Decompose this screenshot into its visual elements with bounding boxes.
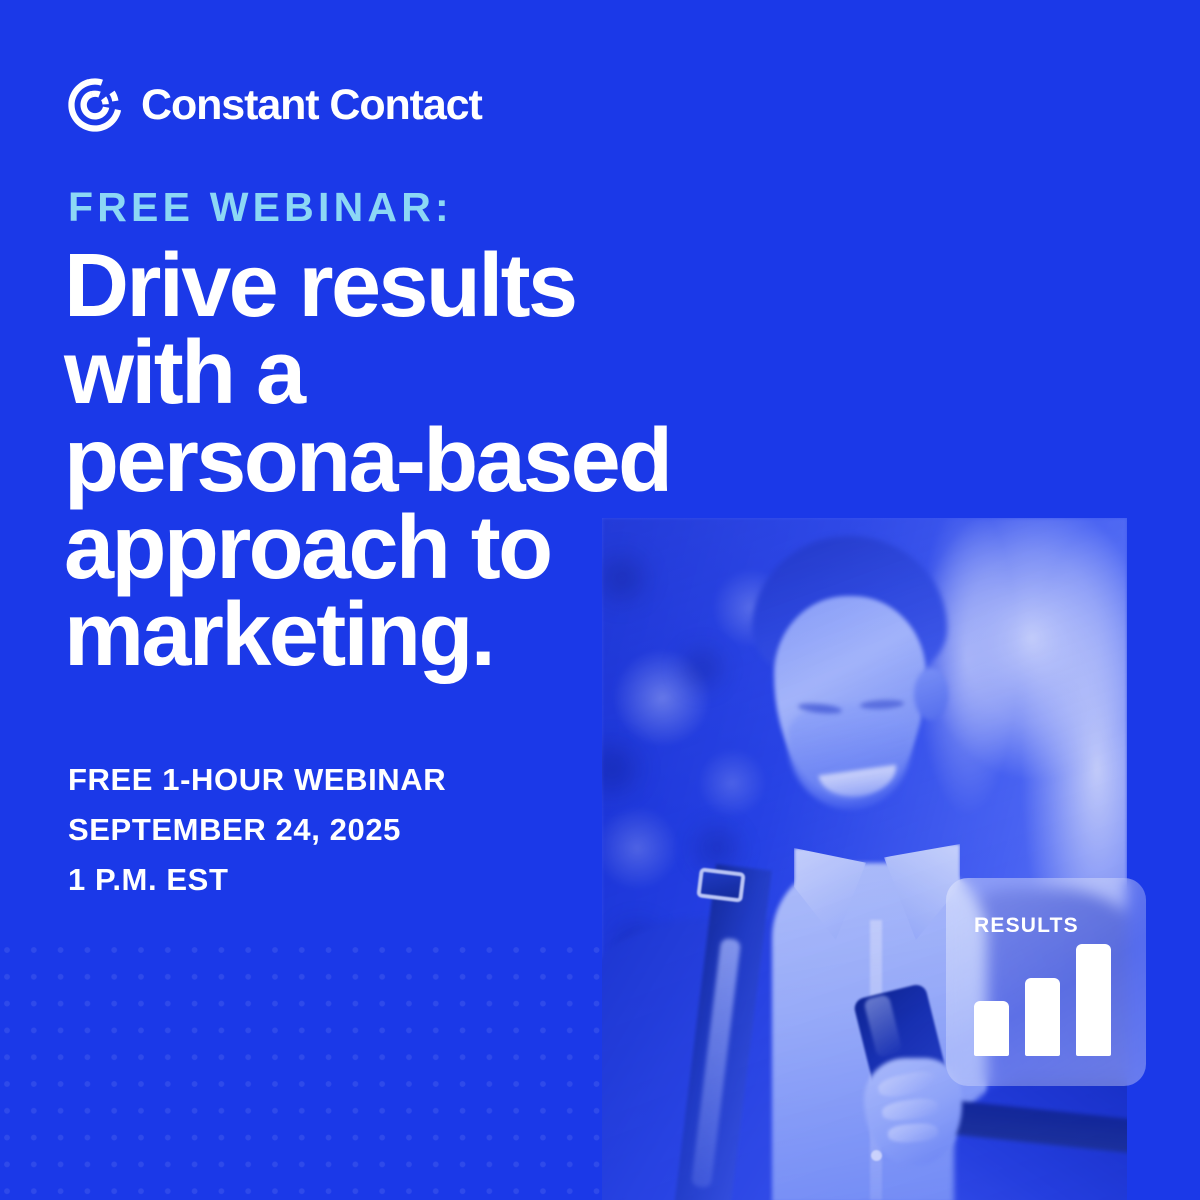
constant-contact-target-icon: [66, 76, 124, 134]
results-bar-chart: [974, 944, 1120, 1056]
results-card: RESULTS: [946, 878, 1146, 1086]
event-detail-line: FREE 1-HOUR WEBINAR: [68, 755, 446, 805]
results-card-label: RESULTS: [974, 914, 1079, 938]
headline-line: approach to: [64, 505, 824, 592]
event-detail-line: 1 P.M. EST: [68, 855, 446, 905]
results-bar: [974, 1001, 1009, 1056]
headline-line: persona-based: [64, 418, 824, 505]
dot-pattern-texture: [0, 945, 640, 1200]
event-details: FREE 1-HOUR WEBINAR SEPTEMBER 24, 2025 1…: [68, 755, 446, 906]
brand-name: Constant Contact: [141, 81, 482, 130]
headline-line: Drive results: [64, 243, 824, 330]
results-bar: [1025, 978, 1060, 1056]
headline: Drive results with a persona-based appro…: [64, 243, 824, 679]
headline-line: marketing.: [64, 592, 824, 679]
brand-logo: Constant Contact: [66, 76, 482, 134]
event-detail-line: SEPTEMBER 24, 2025: [68, 805, 446, 855]
headline-line: with a: [64, 330, 824, 417]
results-bar: [1076, 944, 1111, 1056]
webinar-promo-poster: RESULTS Constant Contact FREE WEBINAR: D…: [0, 0, 1200, 1200]
eyebrow-label: FREE WEBINAR:: [68, 184, 453, 231]
